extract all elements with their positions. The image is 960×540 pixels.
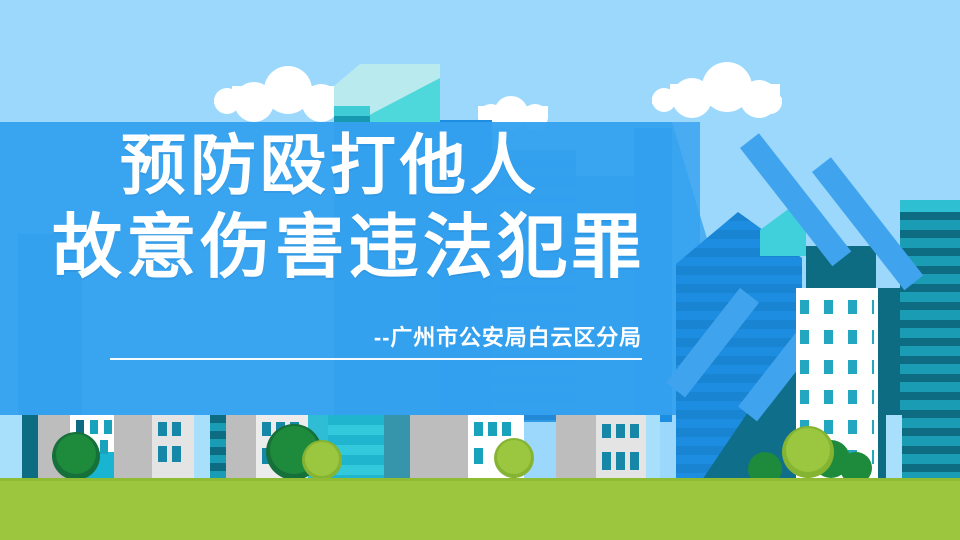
building-icon-ground-gray-4 — [410, 415, 468, 480]
tree-icon-3 — [302, 440, 342, 482]
subtitle-underline — [110, 358, 642, 360]
cloud-icon-left-main — [228, 66, 346, 104]
building-window — [158, 446, 167, 462]
building-icon-ground-teal-5 — [384, 415, 410, 480]
subtitle-block: --广州市公安局白云区分局 — [110, 320, 642, 360]
building-window — [602, 452, 611, 470]
building-icon-ground-sky-gap-3 — [886, 415, 902, 480]
building-window — [630, 452, 639, 470]
building-window — [616, 424, 625, 438]
building-icon-ground-gray-5 — [556, 415, 596, 480]
building-window — [104, 420, 112, 434]
poster-canvas: 预防殴打他人 故意伤害违法犯罪 --广州市公安局白云区分局 — [0, 0, 960, 540]
cloud-icon-far-right — [758, 90, 782, 104]
building-window — [474, 448, 483, 464]
building-window — [100, 440, 108, 454]
building-icon-ground-teal-3 — [210, 415, 226, 480]
headline-block: 预防殴打他人 故意伤害违法犯罪 — [0, 132, 700, 282]
building-window — [172, 422, 181, 436]
subtitle-attribution: --广州市公安局白云区分局 — [110, 320, 642, 352]
grass-field — [0, 478, 960, 540]
building-icon-ground-sky-gap-1 — [194, 415, 210, 480]
building-window — [602, 424, 611, 438]
grass-edge-line — [0, 478, 960, 481]
building-window — [488, 422, 497, 436]
building-icon-central-tower-base-deep — [334, 116, 370, 126]
building-window — [474, 422, 483, 436]
building-icon-ground-teal-1 — [0, 415, 22, 480]
building-icon-ground-gray-2 — [114, 415, 152, 480]
tree-icon-4 — [494, 438, 534, 482]
page-title-line-1: 预防殴打他人 — [120, 132, 700, 198]
building-window — [630, 424, 639, 438]
building-icon-ground-sky-gap-2 — [646, 415, 660, 480]
tree-icon-5 — [782, 426, 834, 482]
building-window — [616, 452, 625, 470]
building-window — [502, 422, 511, 436]
cloud-icon-mid-right — [478, 96, 548, 118]
building-window — [172, 446, 181, 462]
page-title-line-2: 故意伤害违法犯罪 — [52, 212, 700, 282]
building-window — [158, 422, 167, 436]
tree-icon-1 — [52, 432, 100, 482]
